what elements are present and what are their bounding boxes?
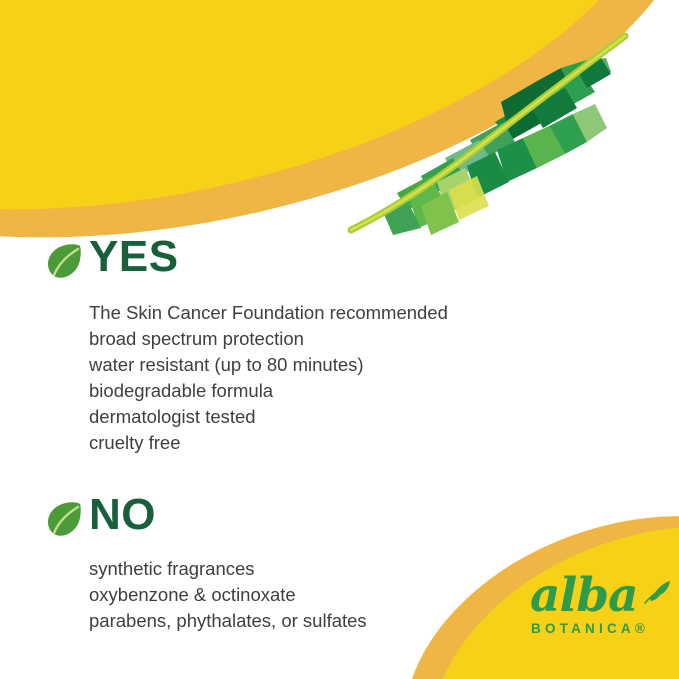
leaf-icon (46, 242, 84, 280)
product-claims-graphic: YES The Skin Cancer Foundation recommend… (0, 0, 679, 679)
list-item: biodegradable formula (89, 378, 448, 404)
list-item: The Skin Cancer Foundation recommended (89, 300, 448, 326)
brand-logo: alba BOTANICA® (527, 572, 667, 644)
section-yes-header: YES (0, 236, 679, 288)
brand-subtitle: BOTANICA® (531, 621, 667, 636)
section-no: NO synthetic fragrances oxybenzone & oct… (0, 494, 679, 546)
section-yes: YES The Skin Cancer Foundation recommend… (0, 236, 679, 288)
leaf-sprig-icon (641, 578, 671, 604)
list-item: broad spectrum protection (89, 326, 448, 352)
section-no-header: NO (0, 494, 679, 546)
list-item: dermatologist tested (89, 404, 448, 430)
list-item: oxybenzone & octinoxate (89, 582, 367, 608)
section-yes-title: YES (89, 231, 179, 283)
section-no-list: synthetic fragrances oxybenzone & octino… (89, 556, 367, 634)
list-item: synthetic fragrances (89, 556, 367, 582)
section-yes-list: The Skin Cancer Foundation recommended b… (89, 300, 448, 456)
list-item: parabens, phythalates, or sulfates (89, 608, 367, 634)
list-item: cruelty free (89, 430, 448, 456)
section-no-title: NO (89, 489, 156, 541)
tropical-leaf-illustration (325, 30, 655, 235)
leaf-icon (46, 500, 84, 538)
list-item: water resistant (up to 80 minutes) (89, 352, 448, 378)
